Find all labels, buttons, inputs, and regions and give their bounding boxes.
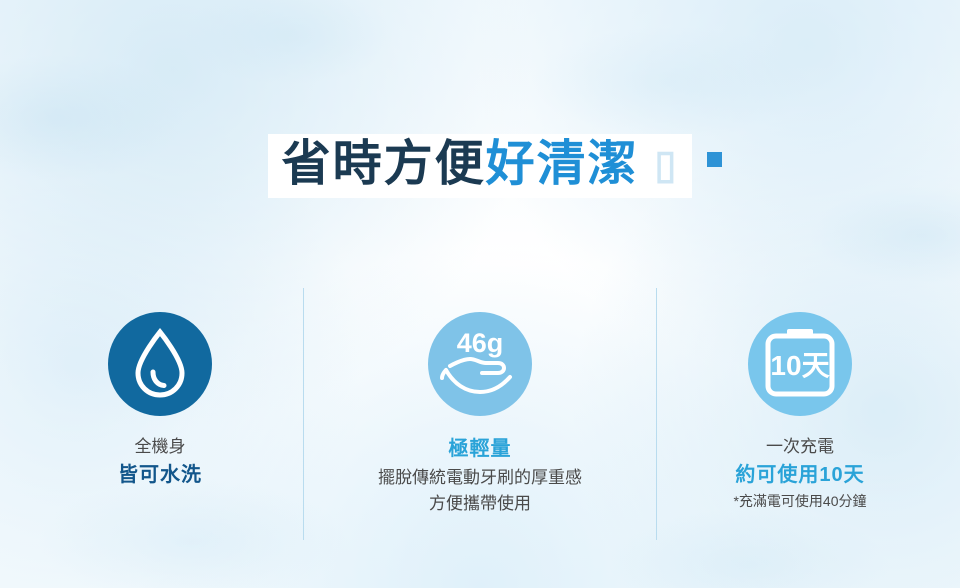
caption-line: 皆可水洗	[118, 460, 202, 491]
caption-line: 一次充電	[733, 434, 866, 460]
caption-line: 擺脫傳統電動牙刷的厚重感	[378, 465, 582, 491]
feature-column-battery: 10天 一次充電 約可使用10天 *充滿電可使用40分鐘	[640, 288, 960, 548]
headline-part-dark: 省時方便	[282, 137, 486, 191]
feature-columns: 全機身 皆可水洗 46g 極輕量 擺脫傳統電動牙刷的厚重感 方便攜帶使用	[0, 288, 960, 548]
accent-square-icon	[707, 152, 722, 167]
feature-caption-washable: 全機身 皆可水洗	[118, 434, 202, 491]
svg-text:10天: 10天	[770, 350, 829, 381]
hand-holding-weight-icon: 46g	[428, 312, 532, 416]
caption-line: 方便攜帶使用	[378, 491, 582, 517]
svg-text:46g: 46g	[457, 328, 504, 358]
feature-column-washable: 全機身 皆可水洗	[0, 288, 320, 548]
caption-footnote: *充滿電可使用40分鐘	[733, 491, 866, 513]
page-title: 省時方便好清潔 ▯	[0, 128, 960, 201]
headline-box-glyph: ▯	[654, 129, 678, 201]
caption-line: 極輕量	[378, 434, 582, 465]
feature-caption-battery: 一次充電 約可使用10天 *充滿電可使用40分鐘	[733, 434, 866, 513]
caption-line: 約可使用10天	[733, 460, 866, 491]
feature-column-lightweight: 46g 極輕量 擺脫傳統電動牙刷的厚重感 方便攜帶使用	[320, 288, 640, 548]
headline-part-blue: 好清潔	[486, 137, 639, 191]
slide-canvas: 省時方便好清潔 ▯ 全機身 皆可水洗 46g	[0, 0, 960, 588]
battery-10-days-icon: 10天	[748, 312, 852, 416]
water-drop-icon	[108, 312, 212, 416]
feature-caption-lightweight: 極輕量 擺脫傳統電動牙刷的厚重感 方便攜帶使用	[378, 434, 582, 518]
caption-line: 全機身	[118, 434, 202, 460]
